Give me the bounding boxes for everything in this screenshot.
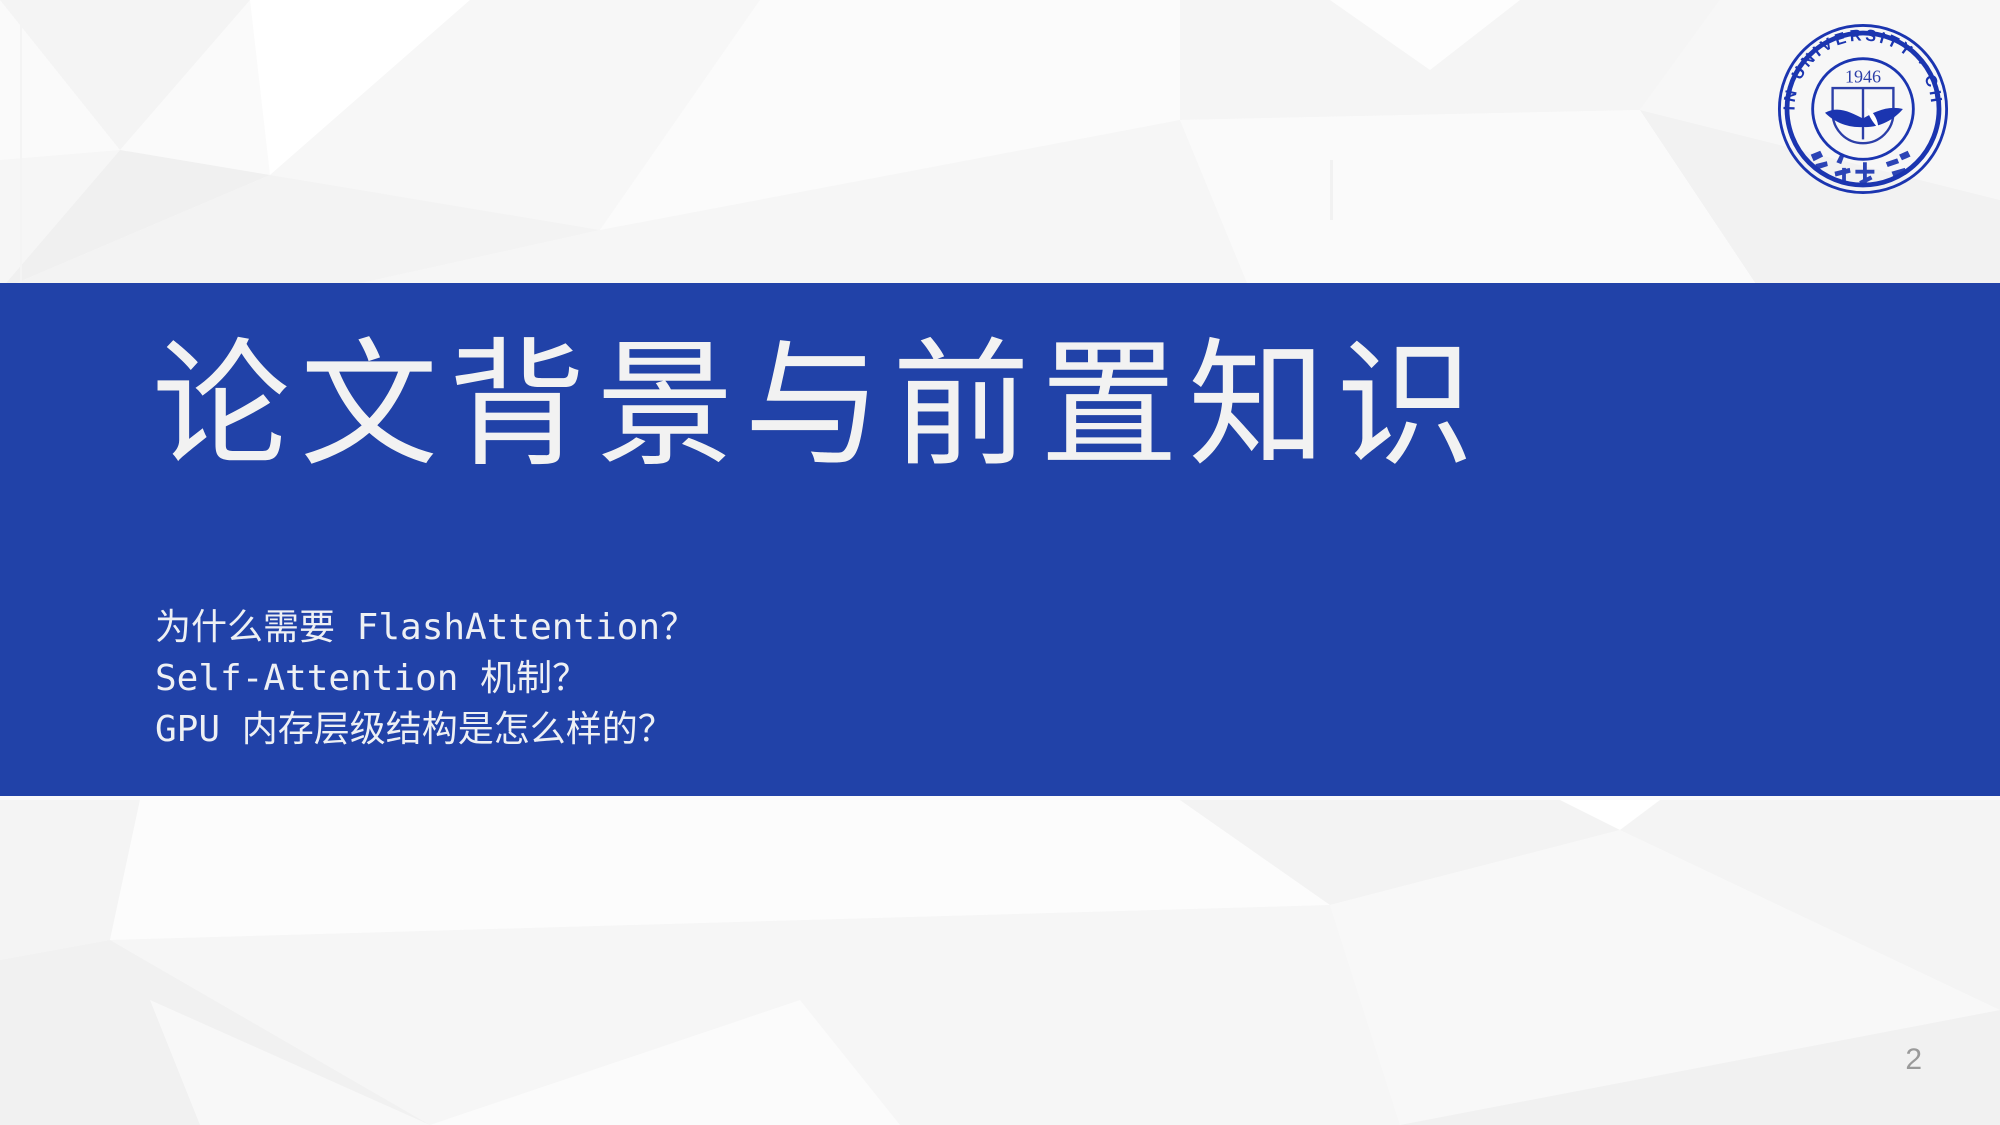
subtitle-block: 为什么需要 FlashAttention？ Self-Attention 机制？… [155,602,696,755]
subtitle-line-2: Self-Attention 机制？ [155,653,696,704]
jilin-university-logo: JILIN UNIVERSITY · CHINA 1946 [1768,14,1958,204]
presentation-slide: JILIN UNIVERSITY · CHINA 1946 论文背景与前置知识 … [0,0,2000,1125]
subtitle-line-1: 为什么需要 FlashAttention？ [155,602,696,653]
page-number: 2 [1905,1043,1922,1077]
page-title: 论文背景与前置知识 [152,330,1484,485]
subtitle-line-3: GPU 内存层级结构是怎么样的？ [155,704,696,755]
logo-year: 1946 [1845,66,1881,86]
